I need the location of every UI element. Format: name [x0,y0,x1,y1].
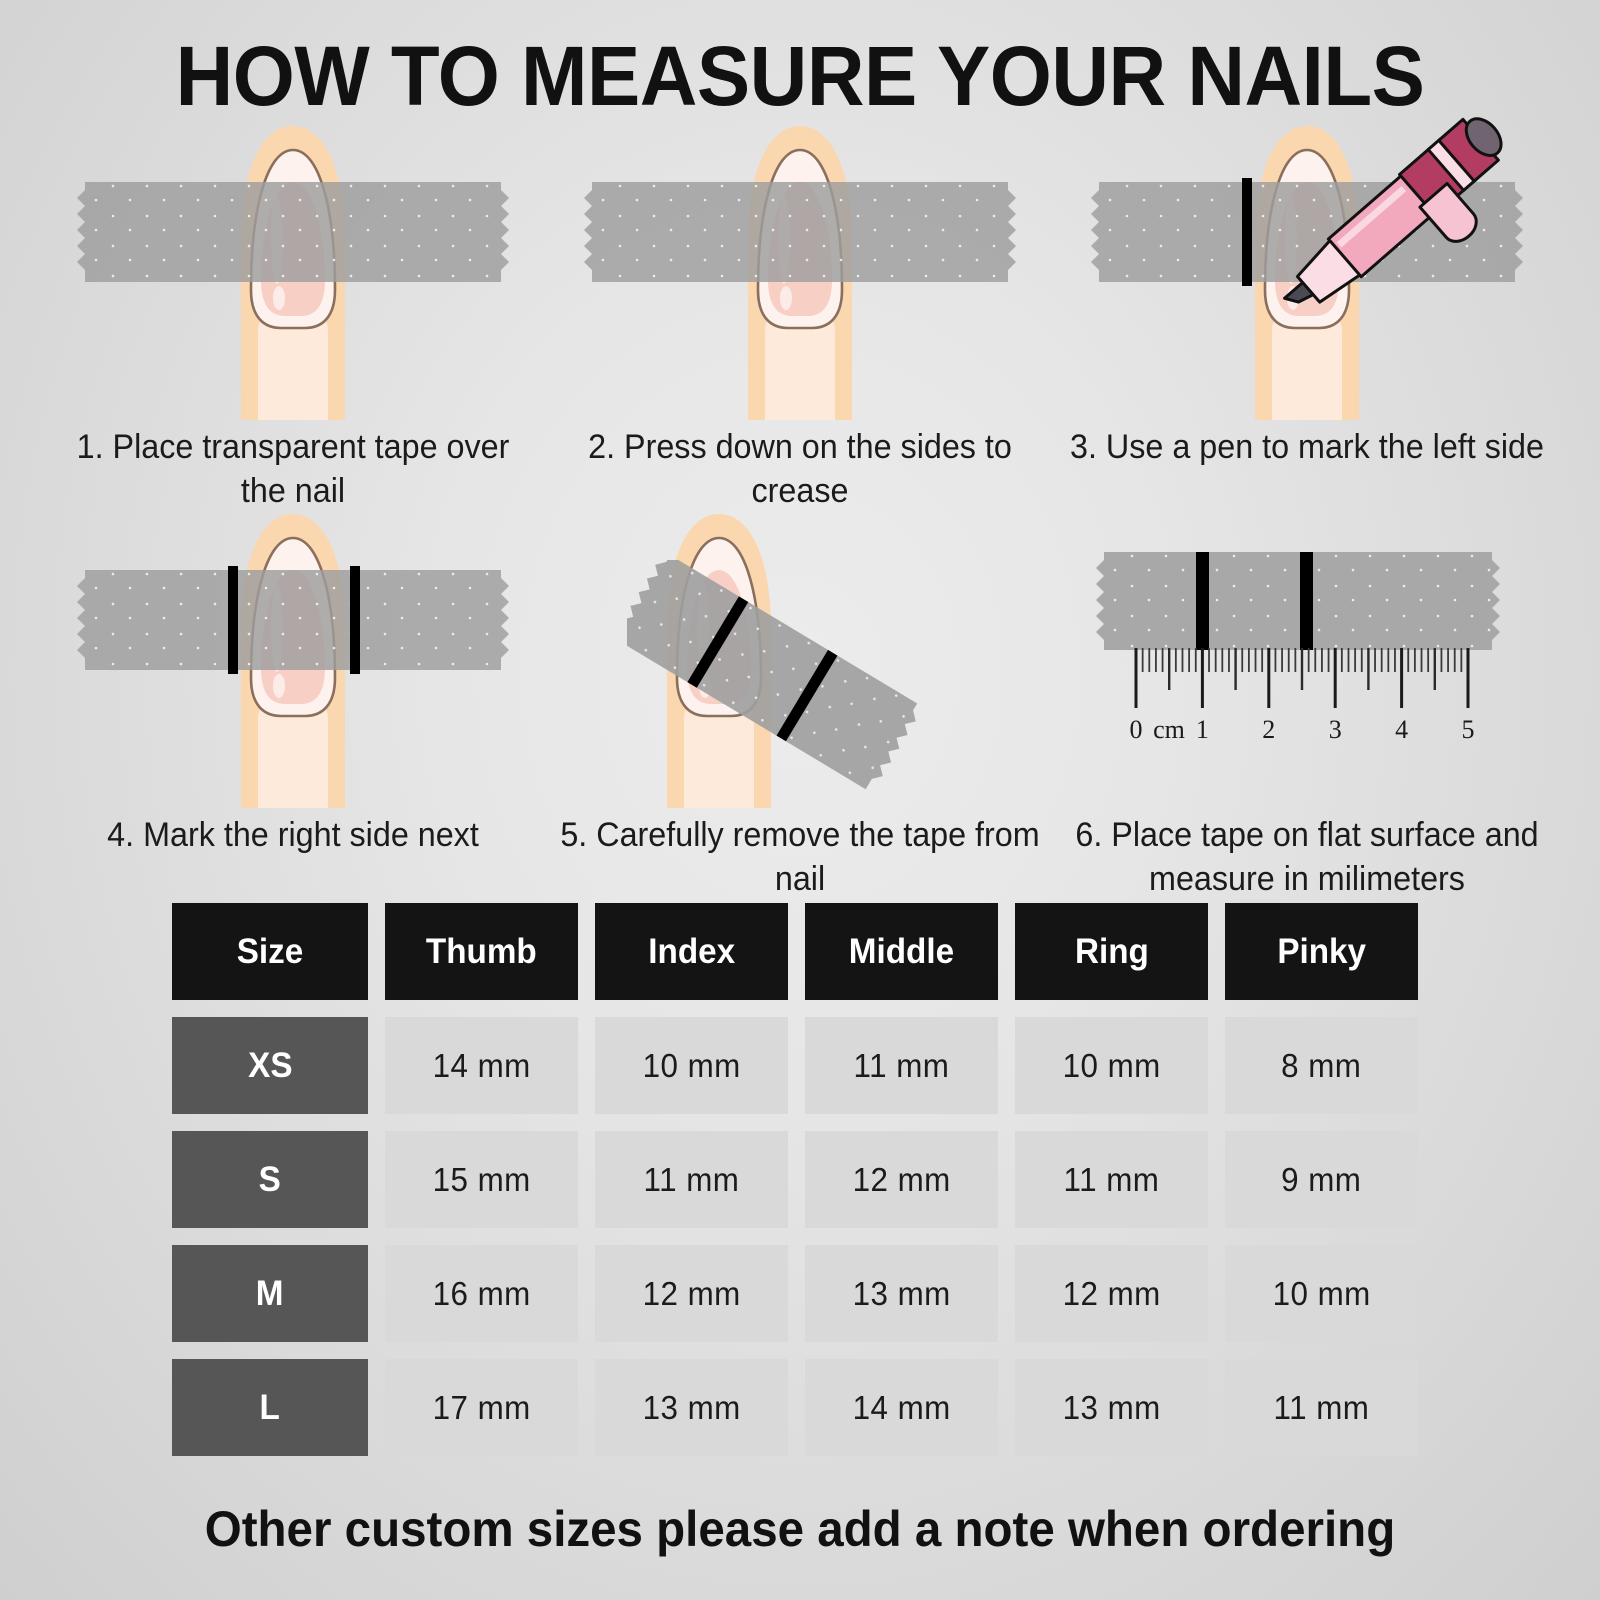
table-header-ring: Ring [1015,903,1208,1000]
step-5-caption: 5. Carefully remove the tape from nail [560,814,1041,901]
table-cell-s-pinky: 9 mm [1225,1131,1418,1228]
table-cell-s-middle: 12 mm [805,1131,998,1228]
table-cell-xs-pinky: 8 mm [1225,1017,1418,1114]
step-6-caption: 6. Place tape on flat surface and measur… [1067,814,1548,901]
tape-strip [73,180,513,284]
table-header-middle: Middle [805,903,998,1000]
table-cell-s-index: 11 mm [595,1131,788,1228]
ruler-tick-1: 1 [1196,715,1209,744]
table-header-index-label: Index [648,932,735,972]
table-cell-l-pinky: 11 mm [1225,1359,1418,1456]
table-cell-xs-index: 10 mm [595,1017,788,1114]
step-5-illustration [547,508,1053,808]
ruler-tick-2: 2 [1262,715,1275,744]
step-3-caption: 3. Use a pen to mark the left side [1067,426,1548,470]
step-6: 0 cm 1 2 3 4 5 6. Place tape on flat sur… [1054,508,1560,901]
tape-strip [73,568,513,672]
ruler-tick-3: 3 [1329,715,1342,744]
ruler: 0 cm 1 2 3 4 5 [1122,646,1522,776]
tape-strip-creased [580,180,1020,284]
measure-tape [1092,550,1512,660]
table-row: M 16 mm 12 mm 13 mm 12 mm 10 mm [172,1245,1438,1342]
step-3-illustration [1054,120,1560,420]
table-size-xs-label: XS [248,1046,292,1086]
table-row: L 17 mm 13 mm 14 mm 13 mm 11 mm [172,1359,1438,1456]
table-header-index: Index [595,903,788,1000]
table-header-row: Size Thumb Index Middle Ring Pinky [172,903,1438,1000]
ruler-tick-0: 0 [1130,715,1143,744]
table-cell-m-thumb: 16 mm [385,1245,578,1342]
table-header-thumb-label: Thumb [426,932,537,972]
table-row: S 15 mm 11 mm 12 mm 11 mm 9 mm [172,1131,1438,1228]
table-size-s: S [172,1131,368,1228]
step-3: 3. Use a pen to mark the left side [1054,120,1560,470]
table-header-pinky-label: Pinky [1277,932,1366,972]
step-2-caption: 2. Press down on the sides to crease [560,426,1041,513]
table-header-size-label: Size [237,932,304,972]
right-mark [348,566,362,674]
table-cell-m-index: 12 mm [595,1245,788,1342]
step-4-caption: 4. Mark the right side next [53,814,534,858]
table-header-pinky: Pinky [1225,903,1418,1000]
step-2: 2. Press down on the sides to crease [547,120,1053,513]
table-cell-m-ring: 12 mm [1015,1245,1208,1342]
step-6-illustration: 0 cm 1 2 3 4 5 [1054,508,1560,808]
table-cell-l-ring: 13 mm [1015,1359,1208,1456]
peeled-tape [627,560,1047,810]
table-cell-m-pinky: 10 mm [1225,1245,1418,1342]
table-size-m-label: M [256,1274,284,1314]
table-header-middle-label: Middle [849,932,954,972]
table-cell-l-index: 13 mm [595,1359,788,1456]
size-table: Size Thumb Index Middle Ring Pinky XS 14… [172,903,1438,1473]
infographic-root: HOW TO MEASURE YOUR NAILS [0,0,1600,1600]
left-mark [226,566,240,674]
step-1-caption: 1. Place transparent tape over the nail [53,426,534,513]
step-4: 4. Mark the right side next [40,508,546,858]
table-size-l: L [172,1359,368,1456]
step-2-illustration [547,120,1053,420]
table-size-s-label: S [259,1160,281,1200]
table-cell-xs-thumb: 14 mm [385,1017,578,1114]
table-cell-m-middle: 13 mm [805,1245,998,1342]
table-size-l-label: L [260,1388,280,1428]
table-cell-s-thumb: 15 mm [385,1131,578,1228]
table-row: XS 14 mm 10 mm 11 mm 10 mm 8 mm [172,1017,1438,1114]
ruler-tick-4: 4 [1395,715,1408,744]
step-4-illustration [40,508,546,808]
table-cell-xs-middle: 11 mm [805,1017,998,1114]
table-cell-xs-ring: 10 mm [1015,1017,1208,1114]
table-cell-l-thumb: 17 mm [385,1359,578,1456]
ruler-unit-label: cm [1153,715,1185,744]
step-1-illustration [40,120,546,420]
table-cell-s-ring: 11 mm [1015,1131,1208,1228]
step-1: 1. Place transparent tape over the nail [40,120,546,513]
table-header-thumb: Thumb [385,903,578,1000]
table-header-size: Size [172,903,368,1000]
table-cell-l-middle: 14 mm [805,1359,998,1456]
table-header-ring-label: Ring [1075,932,1149,972]
pen-icon [1224,114,1554,354]
ruler-tick-5: 5 [1462,715,1475,744]
footer-note: Other custom sizes please add a note whe… [40,1500,1560,1558]
step-5: 5. Carefully remove the tape from nail [547,508,1053,901]
table-size-m: M [172,1245,368,1342]
page-title: HOW TO MEASURE YOUR NAILS [40,28,1560,125]
table-size-xs: XS [172,1017,368,1114]
